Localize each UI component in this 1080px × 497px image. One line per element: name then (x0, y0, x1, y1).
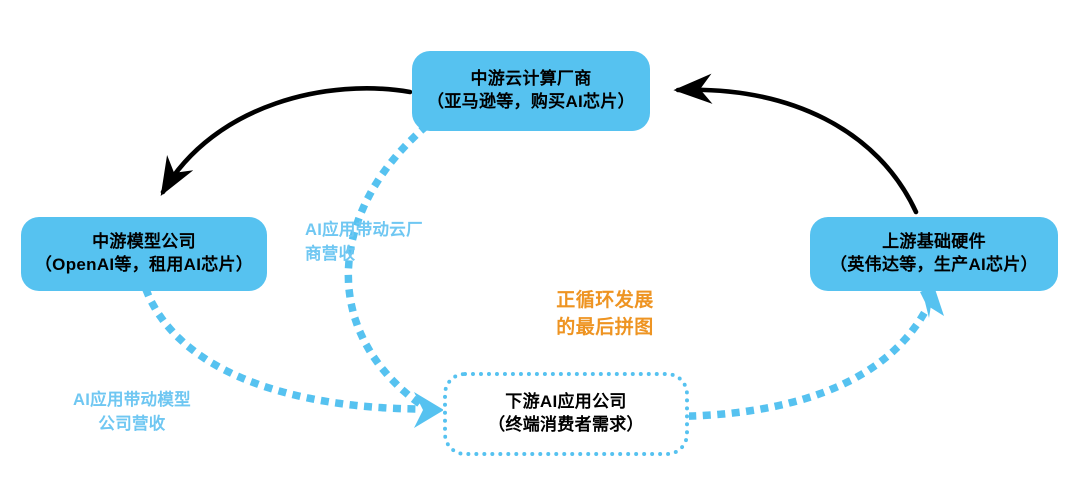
edge-arrowhead-into-apps (414, 392, 444, 428)
edge-apps-to-hardware (692, 306, 928, 416)
node-cloud-vendors[interactable]: 中游云计算厂商 （亚马逊等，购买AI芯片） (412, 51, 650, 131)
node-model-companies-line2: （OpenAI等，租用AI芯片） (35, 254, 253, 277)
node-ai-application-companies-line2: （终端消费者需求） (488, 414, 644, 437)
node-upstream-hardware-line2: （英伟达等，生产AI芯片） (830, 254, 1038, 277)
node-model-companies[interactable]: 中游模型公司 （OpenAI等，租用AI芯片） (21, 217, 267, 291)
node-cloud-vendors-line1: 中游云计算厂商 (470, 68, 591, 91)
diagram-canvas: 中游云计算厂商 （亚马逊等，购买AI芯片） 中游模型公司 （OpenAI等，租用… (0, 0, 1080, 497)
node-cloud-vendors-line2: （亚马逊等，购买AI芯片） (427, 91, 635, 114)
node-upstream-hardware-line1: 上游基础硬件 (882, 231, 986, 254)
node-ai-application-companies[interactable]: 下游AI应用公司 （终端消费者需求） (443, 372, 689, 456)
node-model-companies-line1: 中游模型公司 (92, 231, 196, 254)
flow-label-cloud-revenue: AI应用带动云厂 商营收 (305, 219, 465, 267)
edge-hardware-to-cloud (678, 90, 916, 212)
node-ai-application-companies-line1: 下游AI应用公司 (505, 391, 626, 414)
center-annotation: 正循环发展 的最后拼图 (520, 288, 690, 341)
node-upstream-hardware[interactable]: 上游基础硬件 （英伟达等，生产AI芯片） (810, 217, 1058, 291)
flow-label-model-revenue: AI应用带动模型 公司营收 (42, 389, 222, 437)
edge-cloud-to-model (163, 88, 410, 192)
